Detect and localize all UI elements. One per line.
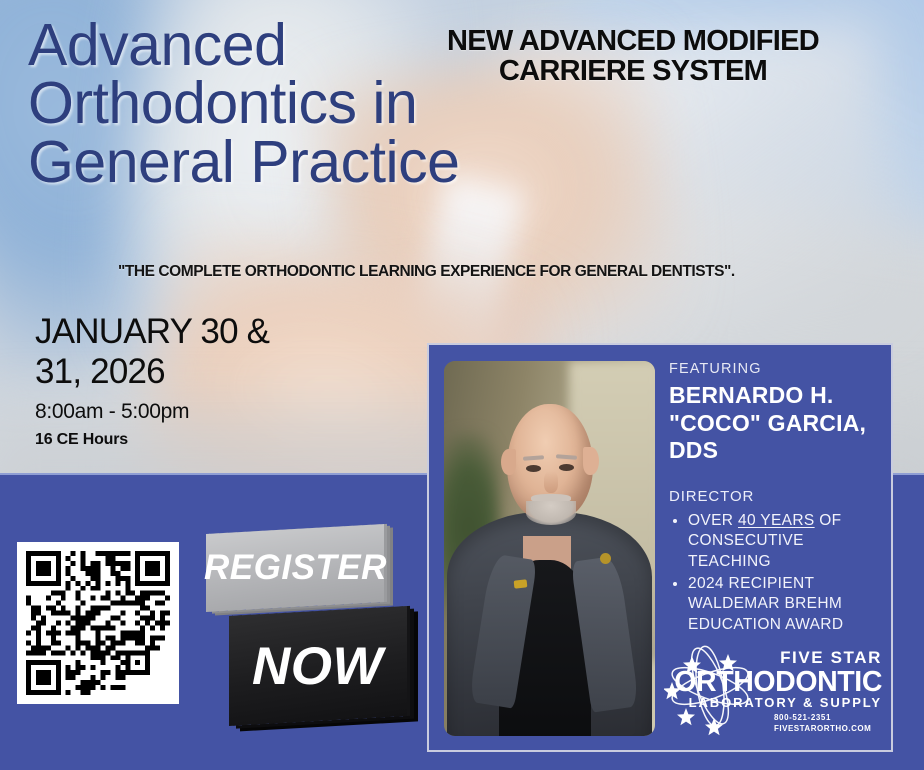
speaker-details: FEATURING BERNARDO H. "COCO" GARCIA, DDS… [669,361,881,636]
tagline: "THE COMPLETE ORTHODONTIC LEARNING EXPER… [118,263,735,281]
speaker-name-line-2: "COCO" GARCIA, [669,410,881,438]
qr-code[interactable] [17,542,179,704]
event-date-block: JANUARY 30 & 31, 2026 8:00am - 5:00pm 16… [35,312,325,449]
speaker-name: BERNARDO H. "COCO" GARCIA, DDS [669,382,881,465]
speaker-name-line-1: BERNARDO H. [669,382,881,410]
poster-canvas: Advanced Orthodontics in General Practic… [0,0,924,770]
headline-line-1: NEW ADVANCED MODIFIED [398,26,868,56]
speaker-role: DIRECTOR [669,488,881,505]
now-button[interactable]: NOW [229,606,407,726]
speaker-panel: FEATURING BERNARDO H. "COCO" GARCIA, DDS… [427,343,893,752]
now-label: NOW [252,636,383,697]
featuring-label: FEATURING [669,361,881,377]
logo-website: FIVESTARORTHO.COM [774,724,871,733]
list-item: OVER 40 YEARS OF CONSECUTIVE TEACHING [688,511,881,573]
speaker-name-line-3: DDS [669,437,881,465]
headline: NEW ADVANCED MODIFIED CARRIERE SYSTEM [398,26,868,86]
headline-line-2: CARRIERE SYSTEM [398,56,868,86]
title-line-3: General Practice [28,133,588,191]
list-item: 2024 RECIPIENT WALDEMAR BREHM EDUCATION … [688,574,881,636]
register-label: REGISTER [204,548,387,588]
register-button[interactable]: REGISTER [206,524,384,612]
event-date-line-2: 31, 2026 [35,352,325,392]
event-time: 8:00am - 5:00pm [35,400,325,424]
event-date-line-1: JANUARY 30 & [35,312,325,352]
logo-sub-line: LABORATORY & SUPPLY [689,695,882,710]
logo-top-line: FIVE STAR [780,648,882,667]
logo-main-line: ORTHODONTIC [674,666,882,698]
speaker-photo [444,361,655,736]
ce-hours-badge: 16 CE Hours [35,431,325,449]
register-now-graphic[interactable]: REGISTER NOW [200,525,415,740]
qr-code-image [26,551,170,695]
five-star-logo: FIVE STAR ORTHODONTIC LABORATORY & SUPPL… [664,642,886,738]
speaker-credentials-list: OVER 40 YEARS OF CONSECUTIVE TEACHING202… [688,511,881,636]
logo-phone: 800-521-2351 [774,713,831,722]
